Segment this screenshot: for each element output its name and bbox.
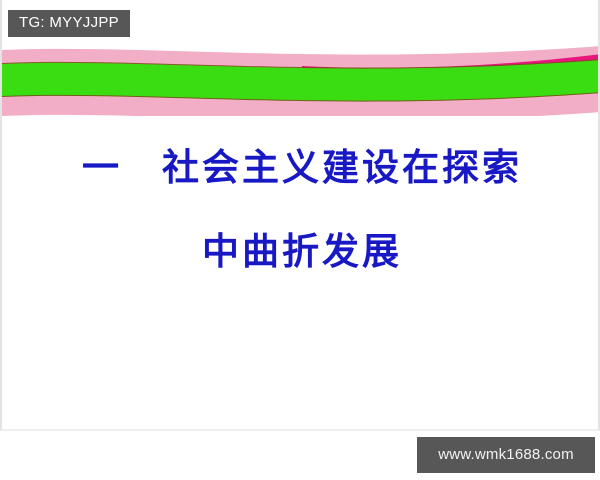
title-line-2: 中曲折发展 [2, 230, 600, 274]
slide-canvas: 一 社会主义建设在探索 中曲折发展 [0, 0, 600, 431]
title-line-1: 一 社会主义建设在探索 [2, 146, 600, 190]
wave-band-svg [2, 44, 600, 116]
page-title: 一 社会主义建设在探索 中曲折发展 [2, 146, 600, 273]
wave-band-decoration [2, 44, 600, 116]
tg-badge: TG: MYYJJPP [8, 10, 130, 37]
watermark: www.wmk1688.com [417, 437, 595, 473]
